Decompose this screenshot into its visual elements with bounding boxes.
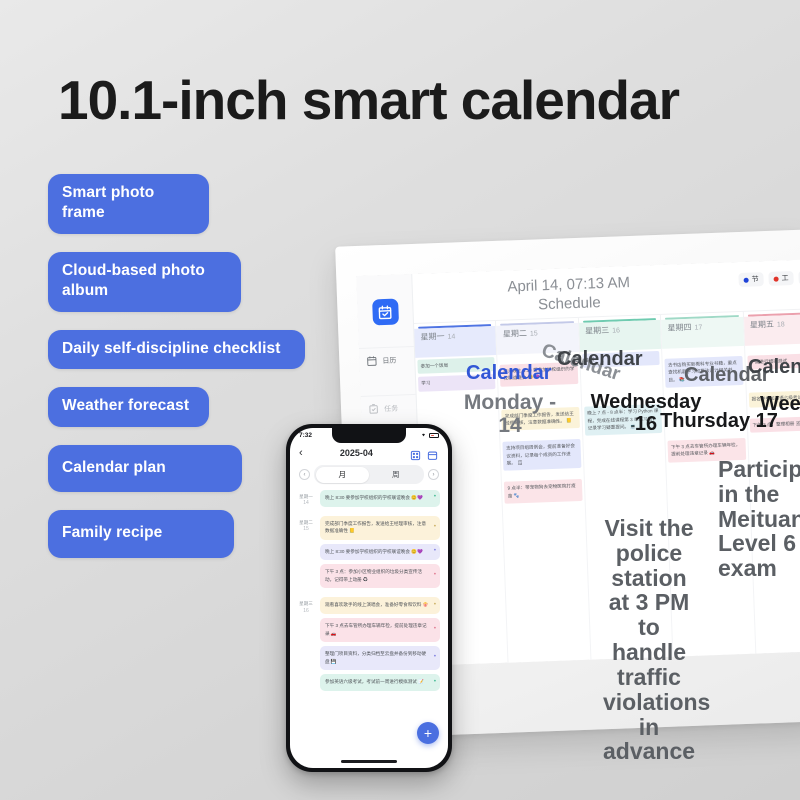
add-event-button[interactable]: + xyxy=(417,722,439,744)
list-item: 星期一 14 晚上 8:30 要参加学校组织的学校联谊晚会 😊💜 • xyxy=(296,490,440,511)
feature-pill-smart-photo-frame[interactable]: Smart photo frame xyxy=(48,174,209,234)
wifi-icon xyxy=(420,431,427,439)
agenda-card-text: 晚上 8:30 要参加学校组织的学校联谊晚会 😊💜 xyxy=(325,549,423,554)
app-main: April 14, 07:13 AM Schedule 节 工 xyxy=(412,259,800,666)
agenda-day: 星期二 15 xyxy=(296,516,316,593)
agenda-card-marker: • xyxy=(434,625,436,635)
list-item: 星期三 16 观看喜欢歌手的线上演唱会，准备好零食和饮料 🍿 • 下午 3 点去… xyxy=(296,597,440,694)
agenda-day-number: 15 xyxy=(296,526,316,534)
agenda-card-marker: • xyxy=(434,523,436,533)
agenda-day-number: 14 xyxy=(296,500,316,508)
legend-dot-work xyxy=(774,276,779,281)
phone-agenda-list: 星期一 14 晚上 8:30 要参加学校组织的学校联谊晚会 😊💜 • 星期二 1… xyxy=(290,490,448,695)
agenda-card-text: 参加英语六级考试，考试前一周进行模拟测试 📝 xyxy=(325,679,424,684)
task-icon xyxy=(368,403,379,414)
feature-pill-calendar-plan[interactable]: Calendar plan xyxy=(48,445,242,492)
day-number: 16 xyxy=(612,327,620,334)
day-column: 去书店购买新概科专业书籍，重点查找机器学习和算法设计相关书目。 📚 下午 3 点… xyxy=(662,346,756,657)
agenda-card[interactable]: 整理门项目资料，分类归档至云盘并备份到移动硬盘 💾 • xyxy=(320,646,440,670)
sidebar-item-label: 日历 xyxy=(382,355,396,366)
segmented-control: 月 周 xyxy=(314,465,424,484)
agenda-card[interactable]: 完成部门季度工作报告，发送给王经理审核，注意数据准确性 📒 • xyxy=(320,516,440,540)
day-number: 14 xyxy=(447,333,455,340)
agenda-card-text: 整理门项目资料，分类归档至云盘并备份到移动硬盘 💾 xyxy=(325,651,426,664)
event-card[interactable]: 剧照 xyxy=(582,351,660,368)
agenda-card[interactable]: 晚上 8:30 要参加学校组织的学校联谊晚会 😊💜 • xyxy=(320,544,440,561)
day-name: 星期四 xyxy=(667,323,691,333)
agenda-card-text: 下午 3 点：参加小区物业组织的垃圾分类宣传活动，记得带上动册 ♻ xyxy=(325,569,422,582)
event-card[interactable]: 完成部门季度工作报告，发送给王经理审核，注意数据准确性。 📒 xyxy=(502,407,580,432)
legend-chip-holiday[interactable]: 节 xyxy=(738,272,763,287)
page-title: 10.1-inch smart calendar xyxy=(58,68,679,132)
legend-dot-holiday xyxy=(744,277,749,282)
day-number: 17 xyxy=(694,324,702,331)
list-item: 星期二 15 完成部门季度工作报告，发送给王经理审核，注意数据准确性 📒 • 晚… xyxy=(296,516,440,593)
phone-screen: 7:32 ‹ 2025-04 xyxy=(290,428,448,768)
agenda-card[interactable]: 晚上 8:30 要参加学校组织的学校联谊晚会 😊💜 • xyxy=(320,490,440,507)
spacer xyxy=(583,368,662,407)
agenda-day: 星期一 14 xyxy=(296,490,316,511)
day-name: 星期三 xyxy=(585,326,609,336)
agenda-card[interactable]: 下午 3 点：参加小区物业组织的垃圾分类宣传活动，记得带上动册 ♻ • xyxy=(320,564,440,588)
event-card[interactable]: 下午 2 点：整理相册 🖼 xyxy=(749,416,800,433)
agenda-card-text: 完成部门季度工作报告，发送给王经理审核，注意数据准确性 📒 xyxy=(325,521,426,534)
agenda-card-text: 晚上 8:30 要参加学校组织的学校联谊晚会 😊💜 xyxy=(325,495,423,500)
day-name: 星期一 xyxy=(420,332,444,342)
agenda-card-marker: • xyxy=(434,678,436,688)
sidebar-item-label: 任务 xyxy=(384,403,398,414)
agenda-day: 星期三 16 xyxy=(296,597,316,694)
event-card[interactable]: 参加一个饭局 xyxy=(417,357,495,374)
event-card[interactable]: 一周进行模拟测试 xyxy=(747,353,800,370)
event-card[interactable]: 周六晚上 8:30 要参加学校组织的学校联谊晚会 😊💜 xyxy=(500,362,578,387)
segment-option-month[interactable]: 月 xyxy=(316,467,370,483)
segment-option-week[interactable]: 周 xyxy=(369,467,423,483)
calendar-icon[interactable] xyxy=(427,448,438,459)
event-card[interactable]: 下午 3 点去车管所办理车辆年检，提前处理违章记录 🚗 xyxy=(668,438,746,463)
agenda-day-name: 星期一 xyxy=(299,494,313,499)
week-day-header[interactable]: 星期三16 xyxy=(579,315,663,352)
feature-item: Smart photo frame xyxy=(48,174,328,234)
prev-month-button[interactable]: ‹ xyxy=(299,469,310,480)
legend: 节 工 xyxy=(738,267,800,287)
day-column: 周六晚上 8:30 要参加学校组织的学校联谊晚会 😊💜 完成部门季度工作报告，发… xyxy=(498,352,592,663)
phone-device: 7:32 ‹ 2025-04 xyxy=(286,424,452,772)
event-card[interactable]: 学习 xyxy=(418,374,496,391)
legend-chip-work[interactable]: 工 xyxy=(768,271,793,286)
feature-item: Weather forecast xyxy=(48,387,328,426)
agenda-cards: 观看喜欢歌手的线上演唱会，准备好零食和饮料 🍿 • 下午 3 点去车管所办理车辆… xyxy=(320,597,440,694)
calendar-icon xyxy=(366,355,377,366)
view-switcher: ‹ 月 周 › xyxy=(290,463,448,490)
spacer xyxy=(748,370,800,393)
event-card[interactable]: 晚上 7 点 - 8 点半：学习 Python 课程，完成在线课程第 3 章练习… xyxy=(584,404,662,436)
agenda-card-marker: • xyxy=(434,571,436,581)
day-number: 15 xyxy=(530,330,538,337)
day-name: 星期五 xyxy=(750,320,774,330)
week-day-header[interactable]: 星期五18 xyxy=(743,309,800,346)
day-name: 星期二 xyxy=(503,329,527,339)
week-day-header[interactable]: 星期四17 xyxy=(661,312,745,349)
agenda-card-text: 下午 3 点去车管所办理车辆年检，提前处理违章记录 🚗 xyxy=(325,623,427,636)
back-button[interactable]: ‹ xyxy=(299,447,303,459)
event-card[interactable]: 支持项目组周例会，提前准备好会议资料，记录每个成员的工作进展。 🗒 xyxy=(503,439,581,471)
agenda-day-number: 16 xyxy=(296,608,316,616)
feature-pill-daily-checklist[interactable]: Daily self-discipline checklist xyxy=(48,330,305,369)
event-card[interactable]: 9 点半：带宠物狗去宠物医院打疫苗 🐾 xyxy=(504,479,582,504)
status-time: 7:32 xyxy=(299,432,312,439)
agenda-card[interactable]: 参加英语六级考试，考试前一周进行模拟测试 📝 • xyxy=(320,674,440,691)
agenda-cards: 晚上 8:30 要参加学校组织的学校联谊晚会 😊💜 • xyxy=(320,490,440,511)
day-number: 18 xyxy=(777,321,785,328)
day-grid: 参加一个饭局 学习 周六晚上 8:30 要参加学校组织的学校联谊晚会 😊💜 完成… xyxy=(415,343,800,666)
sidebar-item-calendar[interactable]: 日历 xyxy=(359,346,415,374)
event-card[interactable]: 报名并参加英语六级考试 📝 xyxy=(748,390,800,407)
feature-pill-family-recipe[interactable]: Family recipe xyxy=(48,510,234,557)
grid-icon[interactable] xyxy=(410,448,421,459)
agenda-card-text: 观看喜欢歌手的线上演唱会，准备好零食和饮料 🍿 xyxy=(325,602,428,607)
agenda-card-marker: • xyxy=(434,653,436,663)
day-column: 剧照 晚上 7 点 - 8 点半：学习 Python 课程，完成在线课程第 3 … xyxy=(580,349,674,660)
week-day-header[interactable]: 星期二15 xyxy=(496,318,580,355)
spacer xyxy=(501,387,579,410)
week-day-header[interactable]: 星期一14 xyxy=(414,321,498,358)
agenda-card[interactable]: 下午 3 点去车管所办理车辆年检，提前处理违章记录 🚗 • xyxy=(320,618,440,642)
feature-item: Cloud-based photo album xyxy=(48,252,328,312)
phone-notch xyxy=(332,428,406,443)
feature-pill-weather-forecast[interactable]: Weather forecast xyxy=(48,387,209,426)
next-month-button[interactable]: › xyxy=(428,469,439,480)
legend-label: 工 xyxy=(781,273,788,283)
agenda-card[interactable]: 观看喜欢歌手的线上演唱会，准备好零食和饮料 🍿 • xyxy=(320,597,440,614)
header-title: April 14, 07:13 AM Schedule xyxy=(422,270,731,319)
agenda-card-marker: • xyxy=(434,601,436,611)
agenda-card-marker: • xyxy=(434,547,436,557)
status-right xyxy=(420,431,439,439)
event-card[interactable]: 去书店购买新概科专业书籍，重点查找机器学习和算法设计相关书目。 📚 xyxy=(665,356,743,388)
agenda-card-marker: • xyxy=(434,493,436,503)
agenda-cards: 完成部门季度工作报告，发送给王经理审核，注意数据准确性 📒 • 晚上 8:30 … xyxy=(320,516,440,593)
sidebar-item-tasks[interactable]: 任务 xyxy=(361,394,417,422)
agenda-day-name: 星期二 xyxy=(299,520,313,525)
feature-item: Daily self-discipline checklist xyxy=(48,330,328,369)
phone-month-title: 2025-04 xyxy=(309,448,404,458)
calendar-check-icon[interactable] xyxy=(372,299,399,326)
spacer xyxy=(666,388,745,441)
poster-stage: 10.1-inch smart calendar Smart photo fra… xyxy=(0,0,800,800)
agenda-day-name: 星期三 xyxy=(299,601,313,606)
feature-pill-cloud-photo-album[interactable]: Cloud-based photo album xyxy=(48,252,241,312)
legend-label: 节 xyxy=(751,274,758,284)
battery-icon xyxy=(429,433,439,438)
day-label: 星期五18 xyxy=(744,317,800,331)
phone-home-indicator xyxy=(341,760,397,763)
